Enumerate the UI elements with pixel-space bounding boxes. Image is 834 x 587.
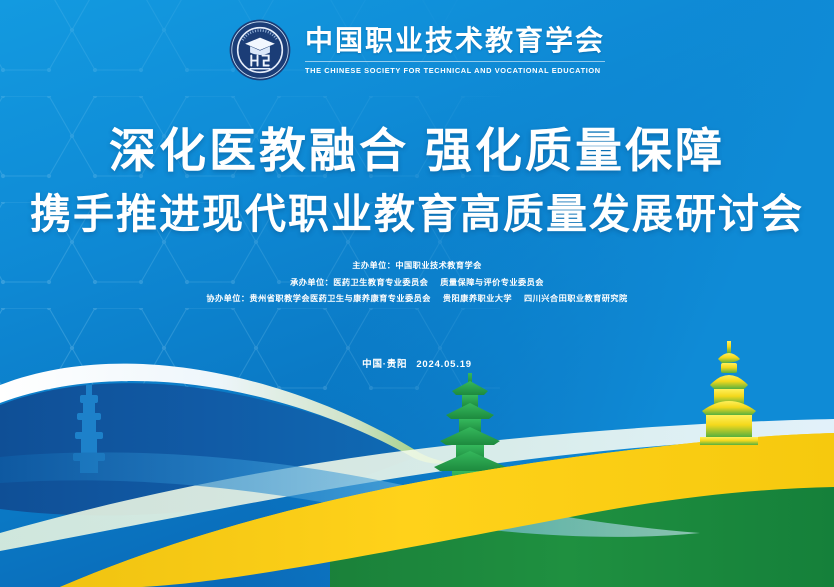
society-name-block: 中国职业技术教育学会 THE CHINESE SOCIETY FOR TECHN… (305, 26, 605, 75)
organizer-label-host: 主办单位： (352, 261, 395, 270)
society-header: 中国职业技术教育学会 THE CHINESE SOCIETY FOR TECHN… (0, 19, 834, 81)
event-location: 中国·贵阳 (362, 359, 407, 370)
organizer-entry-undertaker-0: 医药卫生教育专业委员会 (333, 278, 428, 287)
organizer-list: 主办单位：中国职业技术教育学会 承办单位：医药卫生教育专业委员会质量保障与评价专… (0, 262, 834, 304)
page-title: 深化医教融合 强化质量保障 (0, 125, 834, 178)
organizer-entry-co-2: 四川兴合田职业教育研究院 (524, 294, 628, 303)
event-meta: 中国·贵阳2024.05.19 (0, 356, 834, 370)
organizer-row-coorganizer: 协办单位：贵州省职教学会医药卫生与康养康育专业委员会贵阳康养职业大学四川兴合田职… (206, 295, 627, 303)
organizer-row-host: 主办单位：中国职业技术教育学会 (352, 262, 482, 270)
organizer-entry-host-0: 中国职业技术教育学会 (395, 261, 481, 270)
event-date: 2024.05.19 (416, 359, 472, 370)
society-name: 中国职业技术教育学会 (305, 26, 605, 55)
organizer-entry-undertaker-1: 质量保障与评价专业委员会 (440, 278, 544, 287)
society-name-english: THE CHINESE SOCIETY FOR TECHNICAL AND VO… (305, 67, 605, 74)
society-emblem-icon (229, 19, 291, 81)
organizer-entry-co-1: 贵阳康养职业大学 (443, 294, 512, 303)
organizer-label-undertaker: 承办单位： (290, 278, 333, 287)
conference-banner: 中国职业技术教育学会 THE CHINESE SOCIETY FOR TECHN… (0, 0, 834, 587)
name-divider (305, 61, 605, 62)
organizer-row-undertaker: 承办单位：医药卫生教育专业委员会质量保障与评价专业委员会 (290, 279, 544, 287)
organizer-entry-co-0: 贵州省职教学会医药卫生与康养康育专业委员会 (250, 294, 431, 303)
wave-scenery-decoration (0, 337, 834, 587)
page-subtitle: 携手推进现代职业教育高质量发展研讨会 (0, 191, 834, 238)
organizer-label-coorganizer: 协办单位： (206, 294, 249, 303)
